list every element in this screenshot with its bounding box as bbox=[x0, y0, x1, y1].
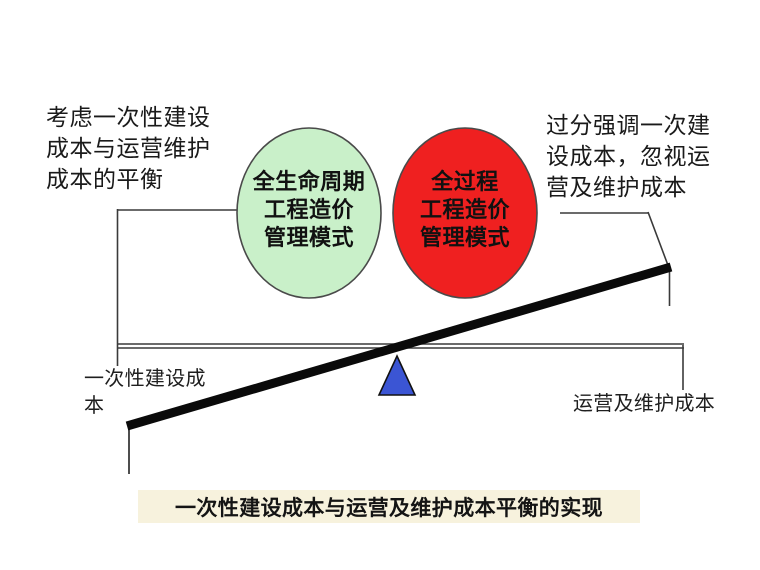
diagram-canvas: 考虑一次性建设 成本与运营维护 成本的平衡 过分强调一次建 设成本，忽视运 营及… bbox=[0, 0, 760, 570]
right-bracket-leader-line bbox=[648, 212, 669, 268]
left-annotation-note: 考虑一次性建设 成本与运营维护 成本的平衡 bbox=[46, 102, 246, 195]
green-ellipse[interactable] bbox=[237, 128, 381, 298]
red-ellipse[interactable] bbox=[393, 128, 537, 298]
right-scale-label: 运营及维护成本 bbox=[573, 391, 753, 418]
left-scale-label: 一次性建设成 本 bbox=[84, 366, 234, 420]
caption-text: 一次性建设成本与运营及维护成本平衡的实现 bbox=[175, 492, 603, 522]
right-annotation-note: 过分强调一次建 设成本，忽视运 营及维护成本 bbox=[546, 110, 751, 203]
fulcrum-triangle-icon bbox=[379, 356, 415, 395]
scale-diagram-graphics bbox=[0, 0, 760, 570]
caption-band: 一次性建设成本与运营及维护成本平衡的实现 bbox=[138, 490, 640, 523]
